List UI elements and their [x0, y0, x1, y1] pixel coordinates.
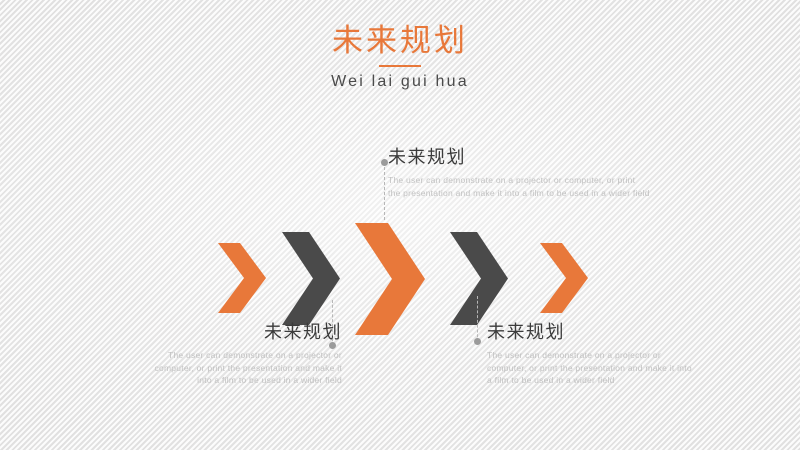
connector-line: [384, 162, 385, 220]
connector-line: [477, 296, 478, 342]
block-heading: 未来规划: [388, 145, 650, 169]
block-heading: 未来规划: [487, 320, 692, 344]
page-subtitle: Wei lai gui hua: [0, 73, 800, 91]
page-title: 未来规划: [0, 22, 800, 60]
chevron-row: [0, 210, 800, 335]
chevron-1[interactable]: [218, 243, 266, 313]
chevron-right-icon: [218, 243, 266, 313]
slide-header: 未来规划 Wei lai gui hua: [0, 22, 800, 91]
text-block-right: 未来规划 The user can demonstrate on a proje…: [487, 320, 692, 387]
connector-dot: [381, 159, 388, 166]
title-divider: [379, 65, 421, 67]
block-body: The user can demonstrate on a projector …: [388, 174, 650, 199]
text-block-left: 未来规划 The user can demonstrate on a proje…: [142, 320, 342, 387]
chevron-right-icon: [355, 223, 425, 335]
block-heading: 未来规划: [142, 320, 342, 344]
connector-bottom-right: [473, 296, 482, 342]
block-body: The user can demonstrate on a projector …: [142, 349, 342, 387]
block-body: The user can demonstrate on a projector …: [487, 349, 692, 387]
chevron-right-icon: [540, 243, 588, 313]
chevron-3[interactable]: [355, 223, 425, 335]
chevron-5[interactable]: [540, 243, 588, 313]
text-block-top: 未来规划 The user can demonstrate on a proje…: [388, 145, 650, 199]
connector-dot: [474, 338, 481, 345]
slide-canvas: 未来规划 Wei lai gui hua: [0, 0, 800, 450]
